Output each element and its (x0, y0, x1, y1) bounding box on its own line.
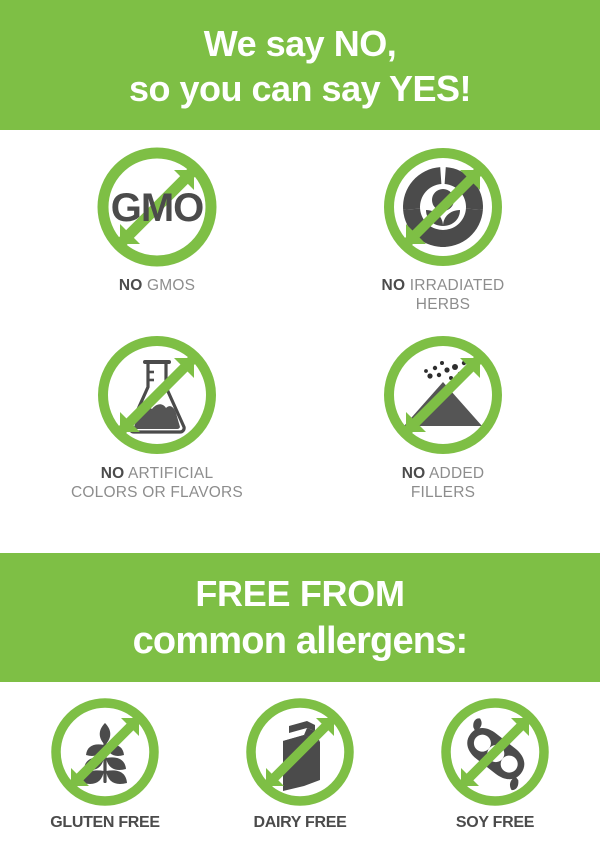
no-artificial-colors-flavors-icon (92, 330, 222, 460)
no-claim-added-fillers-label-2: FILLERS (411, 484, 475, 501)
no-claim-gmos-label: GMOS (147, 277, 195, 294)
no-claim-added-fillers-caption: NO ADDED FILLERS (402, 464, 485, 502)
no-claim-irradiated-herbs-label-1: IRRADIATED (410, 277, 505, 294)
no-claim-artificial-label-2: COLORS OR FLAVORS (71, 484, 243, 501)
no-gmo-icon-text: GMO (111, 186, 204, 230)
no-claim-irradiated-herbs: NO IRRADIATED HERBS (353, 142, 533, 314)
soy-free-soybean-icon (436, 693, 554, 811)
header-banner-no: We say NO, so you can say YES! (0, 0, 600, 130)
header-banner-allergens-line2: common allergens: (133, 617, 468, 665)
no-irradiated-herbs-icon (378, 142, 508, 272)
no-prefix: NO (382, 277, 406, 294)
no-claim-irradiated-herbs-label-2: HERBS (416, 296, 470, 313)
no-prefix: NO (402, 465, 426, 482)
no-claim-irradiated-herbs-caption: NO IRRADIATED HERBS (382, 276, 505, 314)
header-banner-no-line2: so you can say YES! (129, 66, 471, 112)
dairy-free-milk-carton-icon (241, 693, 359, 811)
allergen-free-section: GLUTEN FREE (0, 682, 600, 855)
no-claims-row-2: NO ARTIFICIAL COLORS OR FLAVORS (0, 330, 600, 502)
no-added-fillers-icon (378, 330, 508, 460)
no-claim-artificial-caption: NO ARTIFICIAL COLORS OR FLAVORS (71, 464, 243, 502)
no-claim-artificial-colors-flavors: NO ARTIFICIAL COLORS OR FLAVORS (67, 330, 247, 502)
allergen-item-gluten-label: GLUTEN FREE (50, 814, 160, 832)
no-gmo-icon: GMO (92, 142, 222, 272)
no-claim-gmos-caption: NO GMOS (119, 276, 195, 295)
header-banner-allergens-line1: FREE FROM (195, 571, 404, 617)
header-banner-no-line1: We say NO, (204, 22, 396, 66)
no-claims-section: GMO NO GMOS (0, 130, 600, 553)
no-claim-gmos: GMO NO GMOS (67, 142, 247, 314)
allergen-item-soy: SOY FREE (430, 693, 560, 832)
header-banner-allergens: FREE FROM common allergens: (0, 553, 600, 682)
allergen-free-row: GLUTEN FREE (0, 693, 600, 832)
allergen-item-dairy: DAIRY FREE (235, 693, 365, 832)
no-prefix: NO (101, 465, 125, 482)
no-claim-added-fillers: NO ADDED FILLERS (353, 330, 533, 502)
no-claims-row-1: GMO NO GMOS (0, 142, 600, 314)
allergen-item-dairy-label: DAIRY FREE (253, 814, 346, 832)
no-claim-added-fillers-label-1: ADDED (429, 465, 484, 482)
no-prefix: NO (119, 277, 143, 294)
allergen-item-soy-label: SOY FREE (456, 814, 534, 832)
no-claim-artificial-label-1: ARTIFICIAL (128, 465, 213, 482)
gluten-free-wheat-icon (46, 693, 164, 811)
allergen-item-gluten: GLUTEN FREE (40, 693, 170, 832)
